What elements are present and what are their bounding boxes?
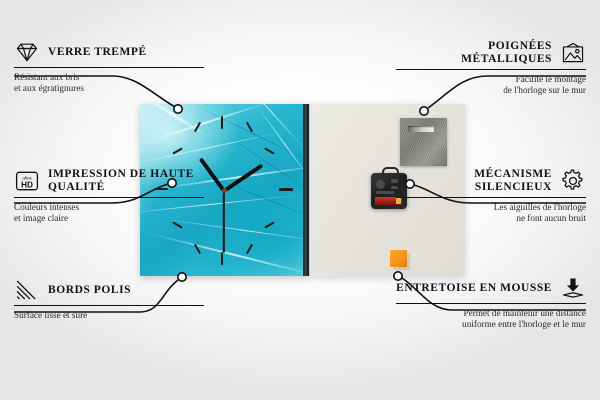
polished-edges-icon: [14, 278, 40, 302]
callout-rule: [396, 197, 586, 198]
hands-center-cap: [222, 188, 227, 193]
callout-rule: [14, 197, 204, 198]
second-hand: [223, 190, 225, 252]
ultra-hd-icon: ultra HD: [14, 169, 40, 193]
callout-entretoise-en-mousse: ENTRETOISE EN MOUSSE Permet de maintenir…: [396, 276, 586, 330]
callout-verre-trempe: VERRE TREMPÉ Résistant aux bris et aux é…: [14, 40, 204, 94]
gear-icon: [560, 169, 586, 193]
callout-bords-polis: BORDS POLIS Surface lisse et sûre: [14, 278, 204, 321]
svg-text:ultra: ultra: [22, 175, 31, 180]
callout-title: IMPRESSION DE HAUTE QUALITÉ: [48, 168, 204, 194]
callout-subtitle: Résistant aux bris et aux égratignures: [14, 72, 204, 94]
callout-mecanisme-silencieux: MÉCANISME SILENCIEUX Les aiguilles de l'…: [396, 168, 586, 224]
callout-subtitle: Surface lisse et sûre: [14, 310, 204, 321]
callout-rule: [396, 303, 586, 304]
metal-handle-slot: [408, 126, 434, 132]
callout-subtitle: Permet de maintenir une distance uniform…: [396, 308, 586, 330]
callout-impression-hd: ultra HD IMPRESSION DE HAUTE QUALITÉ Cou…: [14, 168, 204, 224]
callout-title: ENTRETOISE EN MOUSSE: [396, 282, 552, 295]
callout-title: MÉCANISME SILENCIEUX: [396, 168, 552, 194]
arrow-down-stack-icon: [560, 276, 586, 300]
picture-frame-hanger-icon: [560, 41, 586, 65]
svg-text:HD: HD: [21, 181, 33, 190]
metal-handle-part: [400, 118, 447, 166]
callout-poignees-metalliques: POIGNÉES MÉTALLIQUES Facilite le montage…: [396, 40, 586, 96]
callout-rule: [396, 69, 586, 70]
callout-title: VERRE TREMPÉ: [48, 46, 147, 59]
callout-subtitle: Les aiguilles de l'horloge ne font aucun…: [396, 202, 586, 224]
callout-rule: [14, 305, 204, 306]
minute-hand: [223, 164, 263, 193]
infographic-canvas: VERRE TREMPÉ Résistant aux bris et aux é…: [0, 0, 600, 400]
callout-subtitle: Facilite le montage de l'horloge sur le …: [396, 74, 586, 96]
callout-title: BORDS POLIS: [48, 284, 131, 297]
callout-title: POIGNÉES MÉTALLIQUES: [396, 40, 552, 66]
callout-subtitle: Couleurs intenses et image claire: [14, 202, 204, 224]
callout-rule: [14, 67, 204, 68]
diamond-icon: [14, 40, 40, 64]
foam-spacer-part: [390, 250, 407, 267]
